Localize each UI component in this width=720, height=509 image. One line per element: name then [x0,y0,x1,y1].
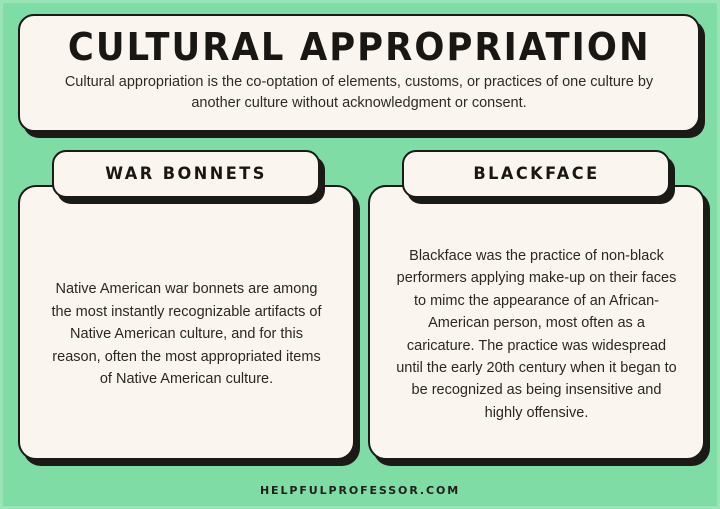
footer: HELPFULPROFESSOR.COM [0,481,720,499]
topic-card-blackface: Blackface was the practice of non-black … [368,185,705,460]
footer-attribution: HELPFULPROFESSOR.COM [260,484,460,497]
badge-label: BLACKFACE [473,164,599,184]
badge-blackface: BLACKFACE [402,150,670,198]
topic-card-war-bonnets: Native American war bonnets are among th… [18,185,355,460]
infographic-canvas: CULTURAL APPROPRIATION Cultural appropri… [0,0,720,509]
topic-card-body: Blackface was the practice of non-black … [396,245,677,425]
badge-war-bonnets: WAR BONNETS [52,150,320,198]
page-title: CULTURAL APPROPRIATION [68,28,651,68]
header-subtitle: Cultural appropriation is the co-optatio… [47,72,672,113]
header-card: CULTURAL APPROPRIATION Cultural appropri… [18,14,700,132]
badge-label: WAR BONNETS [105,164,267,184]
topic-card-body: Native American war bonnets are among th… [46,278,327,390]
